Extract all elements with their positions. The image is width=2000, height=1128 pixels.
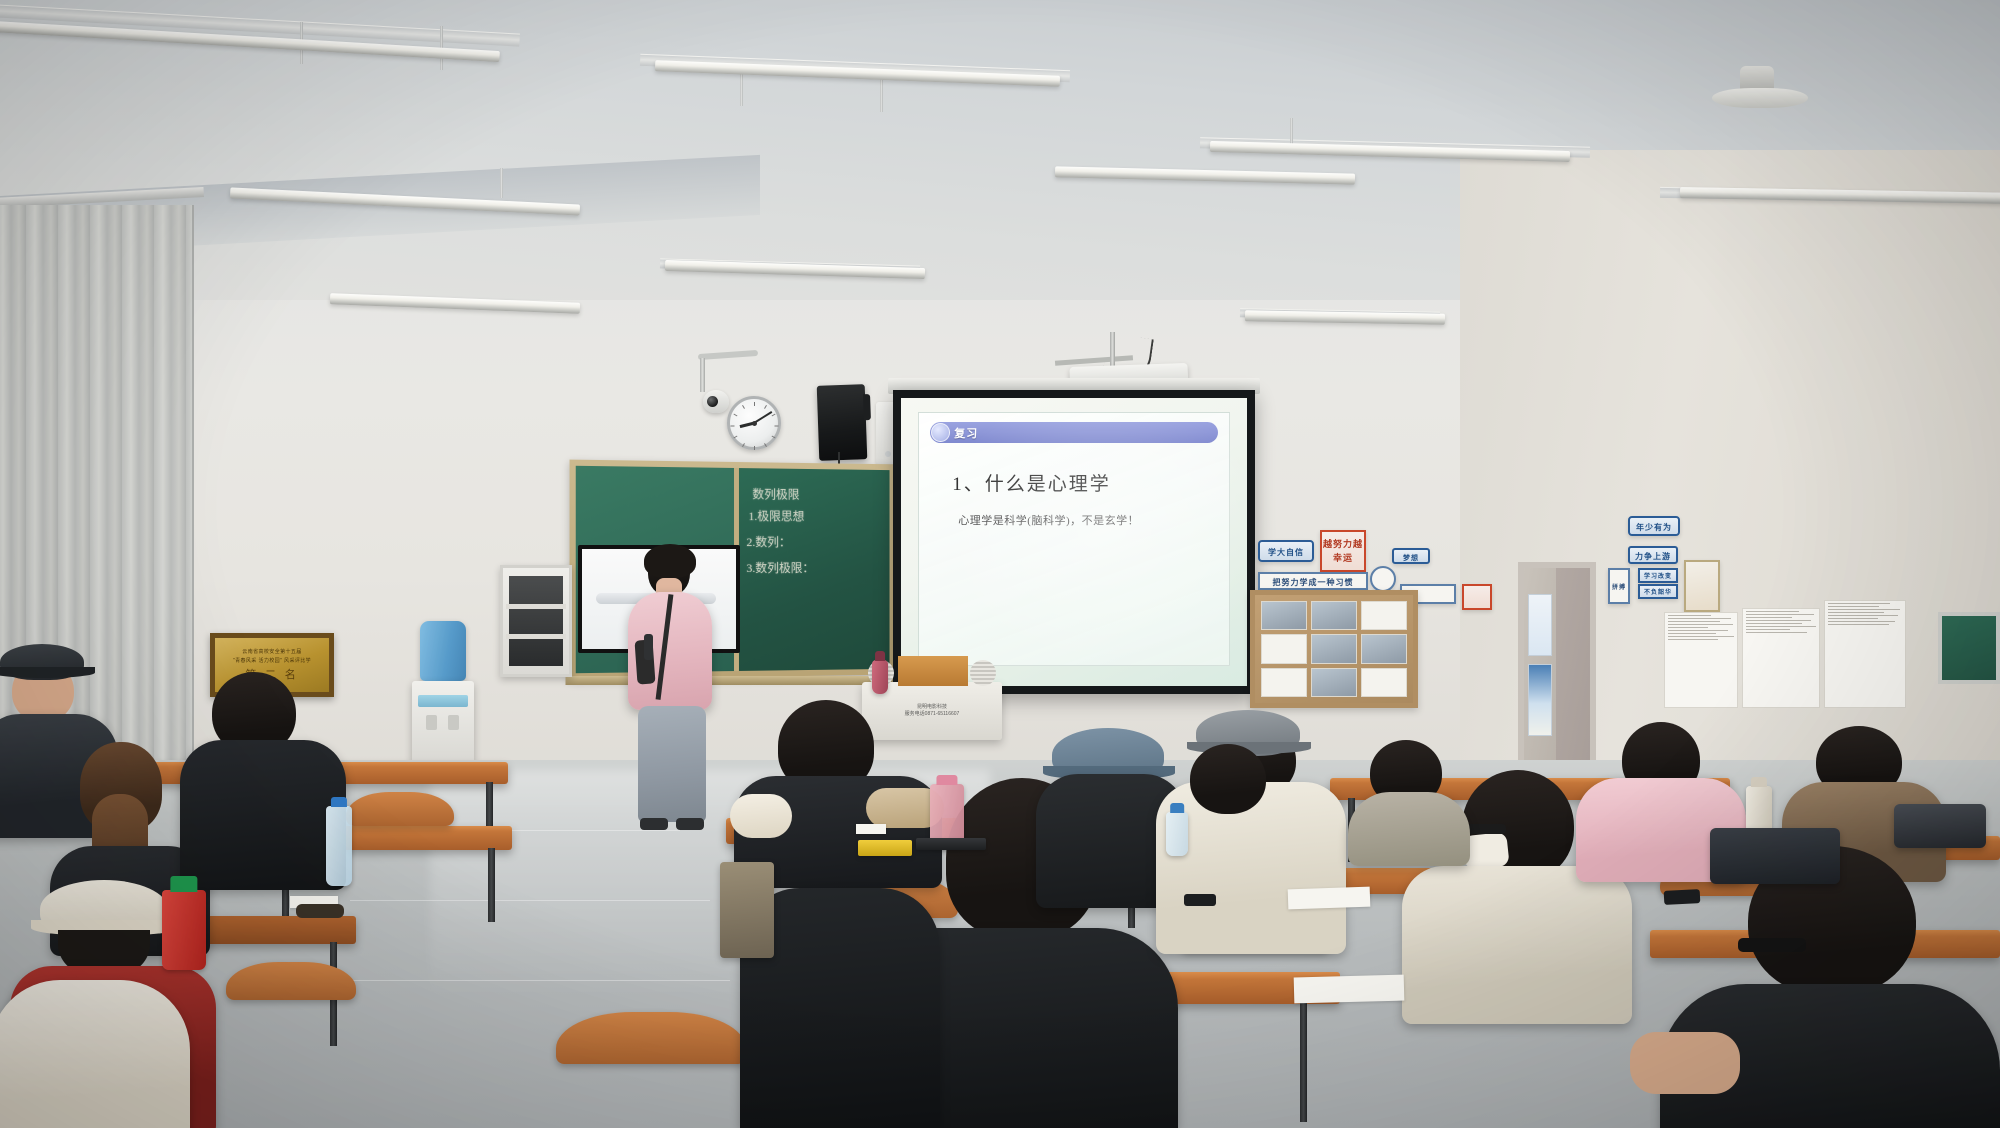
wall-sign: 不负韶华	[1638, 584, 1678, 599]
clock-tick	[754, 402, 755, 406]
presenter-remote	[644, 634, 653, 660]
cabinet-interior	[509, 576, 563, 666]
phone[interactable]	[1184, 894, 1216, 906]
clock-tick	[754, 446, 755, 450]
floor-tile-line	[310, 980, 730, 981]
badge-dot-icon	[931, 423, 950, 442]
bottle-cap	[331, 797, 347, 807]
wall-sign: 把努力学成一种习惯	[1258, 572, 1368, 590]
bulletin-board	[1250, 590, 1418, 708]
board-photo	[1311, 601, 1357, 630]
desk-leg	[488, 848, 495, 922]
board-photo	[1311, 634, 1357, 663]
board-note	[1361, 668, 1407, 697]
thermos-red	[162, 890, 206, 970]
eyeglasses-case	[296, 904, 344, 918]
presenter-pants	[638, 706, 706, 822]
plaque-line-2: "青春风采 活力校园" 风采评比学	[233, 657, 311, 664]
fan-motor	[1740, 66, 1774, 90]
clock-tick	[733, 436, 737, 439]
water-bottle-large	[420, 621, 466, 681]
wall-speaker	[817, 384, 868, 461]
thermos-white	[1746, 786, 1772, 834]
student	[0, 960, 190, 1128]
water-bottle-blue	[326, 806, 352, 886]
chalk-line: 1.极限思想	[748, 508, 804, 526]
wall-sign: 力争上游	[1628, 546, 1678, 564]
ceiling-camera-icon	[703, 390, 729, 413]
presenter-hair	[644, 544, 696, 578]
eyeglasses-icon	[1738, 938, 1806, 952]
clock-tick	[764, 405, 767, 409]
plaque-line-1: 云南省高校安全第十五届	[242, 648, 301, 655]
presenter-shoe	[676, 818, 704, 830]
student	[186, 672, 336, 902]
tumbler-pink	[930, 784, 964, 846]
backpack	[1710, 828, 1840, 884]
cabinet-shelf	[506, 604, 566, 609]
bottle-cap	[875, 651, 885, 661]
phone[interactable]	[1664, 889, 1701, 905]
clock-tick	[733, 414, 737, 417]
wall-sign: 拼搏	[1608, 568, 1630, 604]
wall-sign: 年少有为	[1628, 516, 1680, 536]
wall-sign: 梦想	[1392, 548, 1430, 564]
bottle-cap	[1751, 777, 1767, 787]
student-head	[1190, 744, 1266, 814]
student-puffer	[1402, 866, 1632, 1024]
chair	[226, 962, 356, 1000]
blackboard-panel-right: 数列极限 1.极限思想 2.数列： 3.数列极限：	[738, 468, 889, 671]
clock-tick	[764, 443, 767, 447]
chalk-line: 3.数列极限：	[746, 560, 814, 577]
floor-tile-line	[350, 900, 710, 901]
speaker-grille-icon	[970, 660, 996, 686]
student-hands	[1630, 1032, 1740, 1094]
paper-sheet	[856, 824, 886, 834]
badge-label: 复习	[954, 425, 978, 441]
light-drop-rod	[500, 168, 503, 198]
clock-tick	[742, 443, 745, 447]
indicator-led-icon	[885, 451, 891, 457]
tote-bag	[720, 862, 774, 958]
student-jacket	[1348, 792, 1470, 866]
water-bottle-small	[1166, 812, 1188, 856]
book-yellow	[858, 840, 912, 856]
desk-leg	[1300, 1002, 1307, 1122]
ceiling-fan	[1712, 70, 1808, 112]
fan-plate	[1712, 88, 1808, 108]
wall-document	[1742, 608, 1820, 708]
wall-document	[1664, 612, 1738, 708]
speaker-fin	[863, 394, 871, 420]
wall-sign: 越努力越幸运	[1320, 530, 1366, 572]
wall-poster	[1684, 560, 1720, 612]
classroom-scene: 数列极限 1.极限思想 2.数列： 3.数列极限： 复习 1、什么是心理学 心理…	[0, 0, 2000, 1128]
lectern-wood-panel	[898, 656, 968, 686]
bottle-cap	[170, 876, 197, 892]
camera-arm	[700, 358, 705, 392]
water-dispenser[interactable]	[412, 681, 474, 763]
notebook-white	[1294, 975, 1405, 1004]
bottle-cap	[936, 775, 957, 785]
dispenser-tap[interactable]	[448, 715, 459, 730]
student-fur-coat	[0, 980, 190, 1128]
chalk-tray	[565, 676, 899, 685]
handbag	[1894, 804, 1986, 848]
board-photo	[1361, 634, 1407, 663]
projection-surface: 复习 1、什么是心理学 心理学是科学(脑科学)，不是玄学！	[901, 398, 1247, 686]
clock-tick	[772, 414, 776, 417]
board-photo	[1311, 668, 1357, 697]
student	[1348, 740, 1468, 850]
dispenser-tap[interactable]	[426, 715, 437, 730]
chair	[346, 792, 454, 826]
door-poster	[1528, 594, 1552, 656]
small-whiteboard	[1938, 612, 2000, 684]
board-note	[1261, 668, 1307, 697]
slide-subtext: 心理学是科学(脑科学)，不是玄学！	[958, 512, 1217, 528]
wall-sign: 学大自信	[1258, 540, 1314, 562]
door-poster	[1528, 664, 1552, 736]
bottle-dark	[872, 660, 888, 694]
cap-brim	[0, 667, 95, 678]
dispenser-panel	[418, 695, 468, 707]
slide-heading: 1、什么是心理学	[952, 469, 1217, 496]
student	[1660, 846, 2000, 1128]
wall-sign: 学习改变	[1638, 568, 1678, 583]
camera-lens-icon	[707, 396, 718, 407]
board-note	[1261, 634, 1307, 663]
slide-content: 复习 1、什么是心理学 心理学是科学(脑科学)，不是玄学！	[918, 412, 1229, 665]
wall-document	[1824, 600, 1906, 708]
presenter-shoe	[640, 818, 668, 830]
board-note	[1361, 601, 1407, 630]
clock-center-pin	[752, 421, 757, 426]
equipment-cabinet[interactable]	[500, 565, 572, 677]
notebook	[916, 838, 986, 850]
wall-sign-circle	[1370, 566, 1396, 592]
presenter	[618, 548, 728, 848]
student-jacket	[180, 740, 346, 890]
wall-clock-icon	[727, 396, 781, 450]
chalk-line: 2.数列：	[746, 534, 790, 551]
wall-sign	[1462, 584, 1492, 610]
baseball-cap	[0, 644, 84, 680]
clock-tick	[731, 426, 735, 427]
bottle-cap	[1170, 803, 1184, 813]
cabinet-shelf	[506, 634, 566, 639]
chair	[556, 1012, 746, 1064]
notebook-white	[1288, 887, 1371, 910]
clock-tick	[775, 426, 779, 427]
slide-section-badge: 复习	[930, 422, 1217, 443]
projection-screen: 复习 1、什么是心理学 心理学是科学(脑科学)，不是玄学！	[893, 390, 1255, 694]
fur-trim	[730, 794, 792, 838]
clock-tick	[742, 405, 745, 409]
board-photo	[1261, 601, 1307, 630]
clock-tick	[772, 436, 776, 439]
chalk-line: 数列极限	[752, 486, 799, 504]
